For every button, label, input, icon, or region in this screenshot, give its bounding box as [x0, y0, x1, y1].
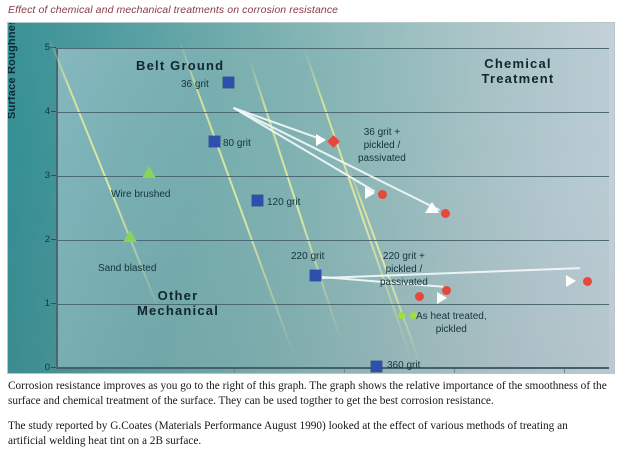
marker-120-grit[interactable]	[252, 195, 263, 206]
label-220-grit-pickled: 220 grit + pickled / passivated	[380, 250, 428, 289]
connector-36-to-120pickled	[233, 107, 440, 211]
other-mechanical-line1: Other	[118, 288, 238, 303]
label-360-grit: 360 grit	[387, 359, 420, 372]
plot-area: Belt Ground Chemical Treatment Other Mec…	[56, 48, 609, 369]
arrowhead-80pickled	[365, 187, 375, 199]
marker-220-grit-pickled-b[interactable]	[415, 292, 424, 301]
section-heading-other-mechanical: Other Mechanical	[118, 288, 238, 318]
marker-120-grit-pickled[interactable]	[441, 209, 450, 218]
marker-80-grit[interactable]	[209, 136, 220, 147]
chemical-treatment-line2: Treatment	[458, 71, 578, 86]
label-220-pickled-line3: passivated	[380, 276, 428, 289]
gridline-y4	[58, 112, 609, 113]
label-36-pickled-line2: pickled /	[358, 139, 406, 152]
label-220-pickled-line2: pickled /	[380, 263, 428, 276]
section-heading-belt-ground: Belt Ground	[136, 58, 224, 73]
x-tickmark-2	[234, 369, 235, 373]
x-tickmark-1	[124, 369, 125, 373]
label-220-grit: 220 grit	[291, 250, 324, 263]
arrowhead-best-chemical	[566, 275, 576, 287]
gridline-y5	[58, 48, 609, 49]
gridline-y0-axis	[58, 367, 609, 369]
arrowhead-220pickled	[437, 292, 447, 304]
y-axis-title-main: Surface Roughness, R	[7, 22, 18, 119]
label-36-grit-pickled: 36 grit + pickled / passivated	[358, 126, 406, 165]
label-sand-blasted: Sand blasted	[98, 262, 156, 275]
marker-heat-treated-pickled-a[interactable]	[398, 312, 405, 319]
chemical-treatment-line1: Chemical	[458, 56, 578, 71]
label-heat-treated-line1: As heat treated,	[416, 310, 487, 323]
chart-figure: Surface Roughness, Ra, micrometres 5 4 3…	[7, 22, 615, 374]
y-tick-5: 5	[28, 42, 50, 53]
footer-paragraph-2: The study reported by G.Coates (Material…	[8, 419, 608, 448]
x-tickmark-3	[344, 369, 345, 373]
label-heat-treated-line2: pickled	[416, 323, 487, 336]
marker-wire-brushed[interactable]	[142, 166, 156, 178]
gridline-y3	[58, 176, 609, 177]
section-heading-chemical-treatment: Chemical Treatment	[458, 56, 578, 86]
marker-80-grit-pickled[interactable]	[378, 190, 387, 199]
label-220-pickled-line1: 220 grit +	[380, 250, 428, 263]
footer-paragraph-1: Corrosion resistance improves as you go …	[8, 379, 608, 408]
gridline-y2	[58, 240, 609, 241]
label-36-pickled-line1: 36 grit +	[358, 126, 406, 139]
connector-36-to-80pickled	[233, 107, 375, 192]
label-wire-brushed: Wire brushed	[111, 188, 170, 201]
background-streak-4	[303, 47, 412, 360]
label-36-pickled-line3: passivated	[358, 152, 406, 165]
y-tick-0: 0	[28, 362, 50, 373]
y-axis-title: Surface Roughness, Ra, micrometres	[7, 22, 20, 119]
y-tick-1: 1	[28, 298, 50, 309]
marker-220-grit[interactable]	[310, 270, 321, 281]
marker-36-grit[interactable]	[223, 77, 234, 88]
arrowhead-120pickled	[425, 202, 439, 213]
marker-360-grit[interactable]	[371, 361, 382, 372]
label-80-grit: 80 grit	[223, 137, 251, 150]
other-mechanical-line2: Mechanical	[118, 303, 238, 318]
x-tickmark-5	[564, 369, 565, 373]
marker-36-grit-pickled[interactable]	[327, 135, 340, 148]
y-tick-3: 3	[28, 170, 50, 181]
x-tickmark-4	[454, 369, 455, 373]
connector-220-to-best	[322, 267, 580, 278]
label-heat-treated-pickled: As heat treated, pickled	[416, 310, 487, 336]
figure-caption: Effect of chemical and mechanical treatm…	[8, 4, 338, 16]
label-36-grit: 36 grit	[181, 78, 209, 91]
marker-best-chemical[interactable]	[583, 277, 592, 286]
arrowhead-36pickled	[316, 134, 326, 146]
label-120-grit: 120 grit	[267, 196, 300, 209]
y-tick-2: 2	[28, 234, 50, 245]
marker-sand-blasted[interactable]	[123, 230, 137, 242]
y-tick-4: 4	[28, 106, 50, 117]
